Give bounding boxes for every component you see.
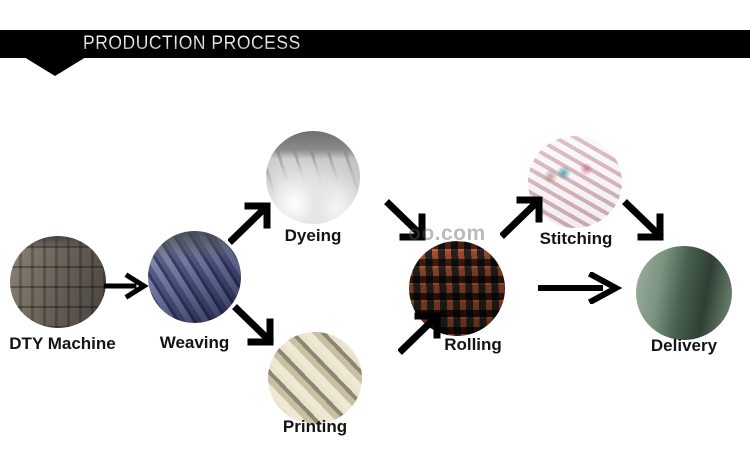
- arrow-weaving-to-dyeing: [228, 198, 276, 246]
- arrow-dyeing-to-rolling: [384, 198, 432, 246]
- arrow-printing-to-rolling: [398, 308, 446, 356]
- arrow-stitching-to-delivery: [622, 198, 670, 246]
- page-title: PRODUCTION PROCESS: [83, 30, 301, 58]
- flow-node-label: DTY Machine: [0, 334, 125, 354]
- flow-node-label: Printing: [263, 417, 367, 437]
- arrow-weaving-to-printing: [232, 303, 280, 351]
- arrow-dty-to-weaving: [104, 272, 150, 300]
- flow-node-label: Delivery: [634, 336, 734, 356]
- printing-image: [268, 332, 362, 424]
- arrow-rolling-to-stitching: [500, 192, 548, 240]
- dty-machine-image: [10, 236, 106, 328]
- dyeing-image: [266, 131, 360, 224]
- arrow-rolling-to-delivery: [538, 272, 622, 304]
- delivery-image: [636, 246, 732, 340]
- flow-node-label: Dyeing: [262, 226, 364, 246]
